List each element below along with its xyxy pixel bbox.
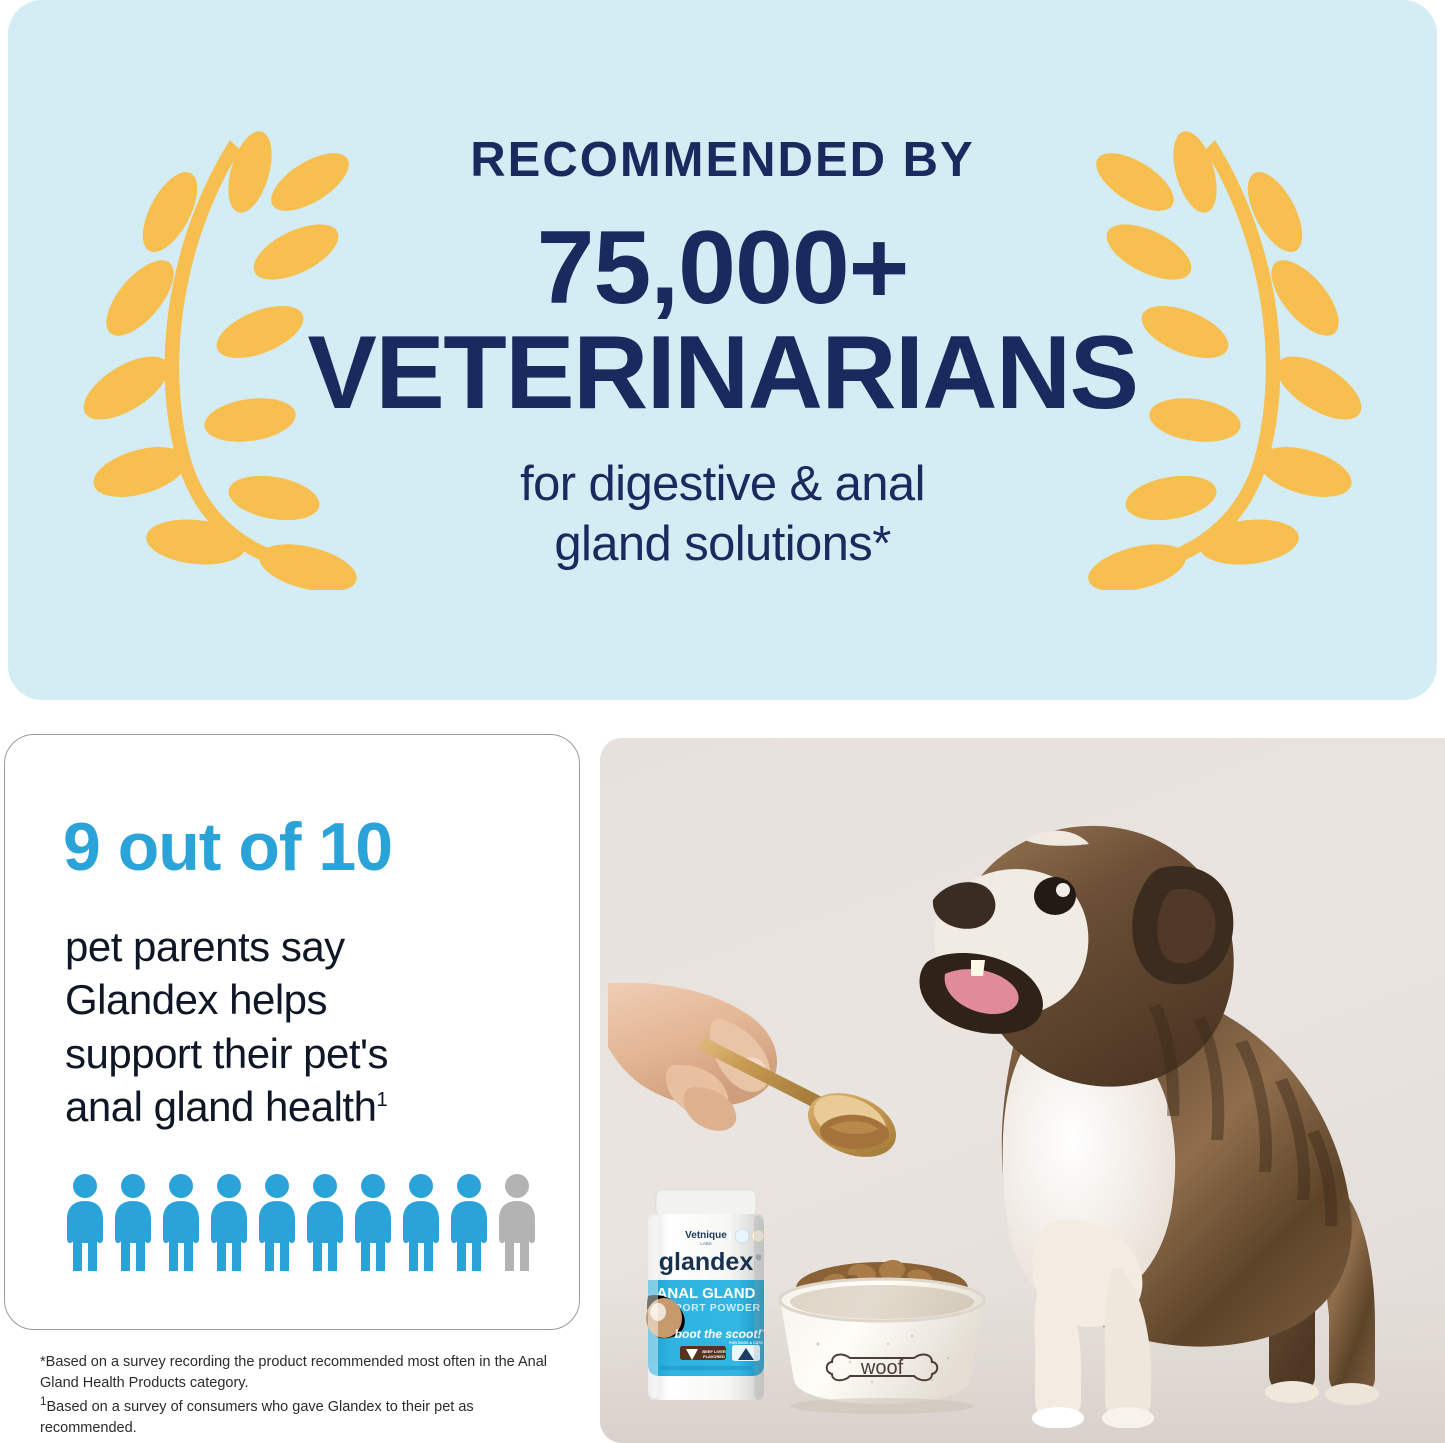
footnote-line-3: 1Based on a survey of consumers who gave…: [40, 1394, 570, 1439]
banner-subtitle-line-1: for digestive & anal: [520, 455, 925, 515]
person-icon: [399, 1173, 443, 1273]
person-icon: [255, 1173, 299, 1273]
bottle-subtitle-1: ANAL GLAND: [657, 1285, 756, 1302]
stat-body: pet parents say Glandex helps support th…: [65, 920, 545, 1133]
footnotes: *Based on a survey recording the product…: [40, 1352, 570, 1439]
stat-body-line-1: pet parents say: [65, 920, 545, 973]
glandex-bottle: Vetnique LABS glandex ® ANAL GLAND SUPPO…: [636, 1188, 776, 1403]
person-icon: [447, 1173, 491, 1273]
banner-subtitle: for digestive & anal gland solutions*: [520, 455, 925, 575]
banner-number: 75,000+: [537, 215, 909, 321]
recommended-by-banner: RECOMMENDED BY 75,000+ VETERINARIANS for…: [8, 0, 1437, 700]
person-icon: [351, 1173, 395, 1273]
person-icon: [495, 1173, 539, 1273]
banner-kicker: RECOMMENDED BY: [470, 136, 974, 185]
bottle-brand-text: Vetnique: [685, 1230, 727, 1241]
stat-card: 9 out of 10 pet parents say Glandex help…: [4, 734, 580, 1330]
stat-body-line-4: anal gland health1: [65, 1080, 545, 1133]
footnote-line-1: *Based on a survey recording the product…: [40, 1352, 570, 1373]
footnote-line-2: Gland Health Products category.: [40, 1373, 570, 1394]
banner-text-block: RECOMMENDED BY 75,000+ VETERINARIANS for…: [8, 0, 1437, 700]
stat-body-line-3: support their pet's: [65, 1027, 545, 1080]
product-lifestyle-photo: Vetnique LABS glandex ® ANAL GLAND SUPPO…: [600, 738, 1445, 1443]
bottle-brand-sub: LABS: [700, 1241, 712, 1246]
stat-headline: 9 out of 10: [63, 813, 392, 881]
hand-holding-spoon-icon: [608, 983, 948, 1203]
bottle-tagline: boot the scoot!: [675, 1327, 762, 1341]
person-icon: [303, 1173, 347, 1273]
person-icon: [159, 1173, 203, 1273]
stat-body-line-2: Glandex helps: [65, 973, 545, 1026]
person-icon: [111, 1173, 155, 1273]
bowl-text: woof: [860, 1357, 904, 1379]
banner-headline: VETERINARIANS: [308, 323, 1138, 425]
people-pictogram: [63, 1165, 533, 1273]
person-icon: [207, 1173, 251, 1273]
stat-body-line-4-text: anal gland health: [65, 1083, 376, 1130]
person-icon: [63, 1173, 107, 1273]
banner-subtitle-line-2: gland solutions*: [520, 515, 925, 575]
stat-body-superscript: 1: [376, 1089, 387, 1111]
footnote-line-3-text: Based on a survey of consumers who gave …: [40, 1399, 478, 1436]
dog-food-bowl-icon: woof: [762, 1240, 1002, 1415]
bottle-product-name: glandex: [659, 1248, 754, 1276]
svg-text:FLAVORED: FLAVORED: [703, 1354, 725, 1359]
